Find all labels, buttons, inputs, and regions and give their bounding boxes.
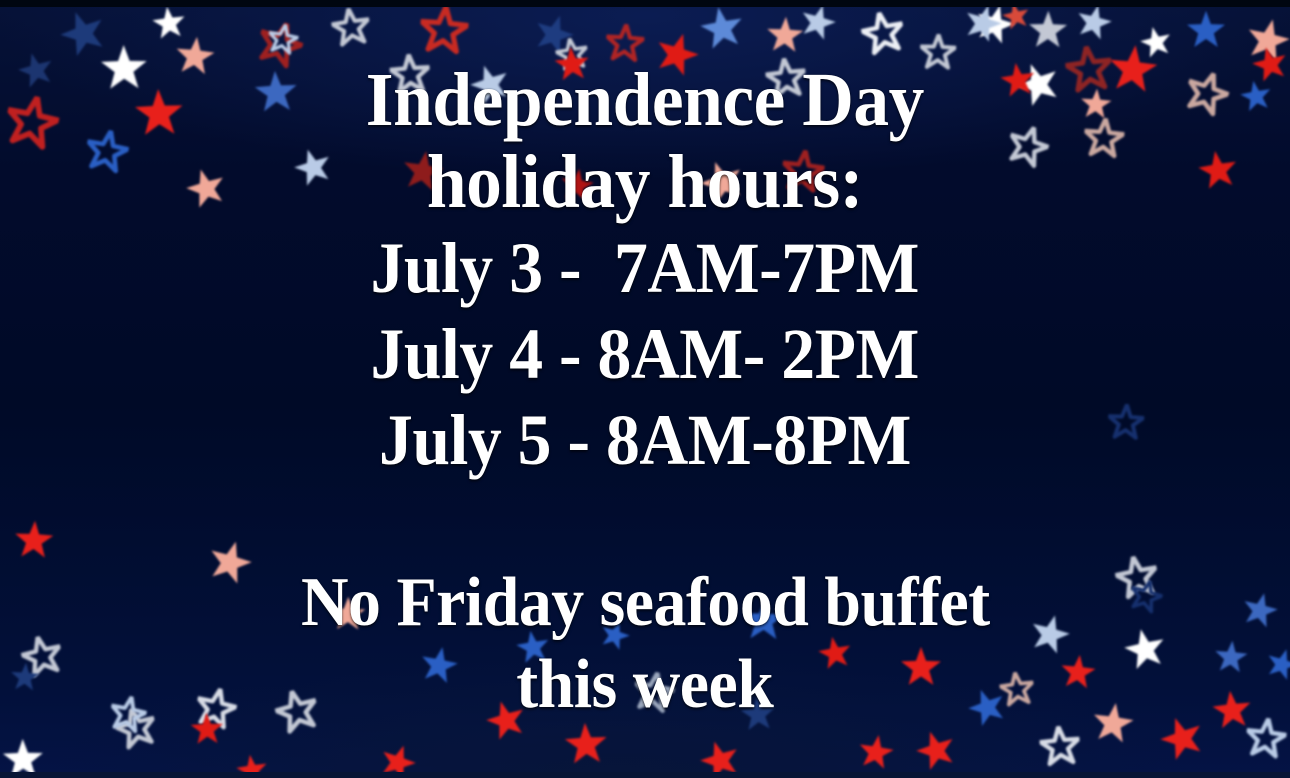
star-icon (552, 44, 591, 83)
star-icon (203, 535, 257, 589)
star-icon (465, 59, 515, 109)
star-icon (998, 60, 1039, 101)
star-icon (694, 154, 750, 210)
star-icon (82, 126, 131, 175)
star-icon (1082, 116, 1125, 159)
star-icon (605, 23, 646, 64)
star-icon (1237, 77, 1274, 114)
star-icon (234, 752, 270, 778)
star-icon (289, 143, 336, 190)
star-icon (1106, 42, 1161, 97)
star-icon (764, 56, 808, 100)
star-icon (911, 725, 961, 775)
star-icon (697, 3, 748, 54)
star-icon (739, 695, 777, 733)
star-icon (998, 670, 1036, 708)
star-icon (417, 643, 462, 688)
star-icon (855, 731, 896, 772)
star-icon (1003, 121, 1053, 171)
star-icon (1058, 652, 1098, 692)
star-icon (1262, 644, 1290, 684)
star-icon (1079, 87, 1113, 121)
star-icon (14, 48, 58, 92)
star-icon (1120, 624, 1170, 674)
star-icon (173, 34, 217, 78)
star-icon (780, 148, 827, 195)
holiday-hours-poster: Independence Day holiday hours: July 3 -… (0, 0, 1290, 778)
star-icon (271, 685, 322, 736)
star-icon (1, 91, 63, 153)
star-icon (266, 22, 301, 57)
star-icon (9, 661, 41, 693)
star-icon (919, 33, 956, 70)
star-icon (563, 721, 609, 767)
star-icon (389, 53, 432, 96)
star-icon (1244, 716, 1289, 761)
star-icon (900, 646, 942, 688)
star-icon (481, 695, 530, 744)
star-icon (330, 6, 373, 49)
star-icon (133, 87, 185, 139)
star-icon (650, 27, 705, 82)
star-icon (2, 738, 45, 778)
star-icon (1107, 403, 1145, 441)
star-icon (741, 597, 787, 643)
star-icon (13, 519, 55, 561)
star-icon (1213, 639, 1250, 676)
star-icon (1180, 66, 1233, 119)
star-icon (399, 147, 447, 195)
star-icon (1186, 10, 1226, 50)
star-icon (100, 44, 149, 93)
star-icon (1238, 588, 1282, 632)
star-icon (375, 739, 421, 778)
star-icon (1028, 10, 1069, 51)
star-icon (1154, 710, 1210, 766)
star-icon (815, 633, 854, 672)
star-icon (695, 735, 745, 778)
star-icon (181, 163, 230, 212)
star-icon (330, 596, 367, 633)
star-icon (558, 166, 596, 204)
star-icon (189, 711, 224, 746)
star-icon (1072, 0, 1116, 44)
star-icon (631, 669, 677, 715)
star-icon (1026, 610, 1075, 659)
star-icon (1126, 576, 1166, 616)
star-icon (1195, 147, 1241, 193)
star-icon (418, 4, 470, 56)
star-icon (253, 69, 299, 115)
star-icon (514, 628, 553, 667)
star-icon (1089, 699, 1136, 746)
star-icon (107, 693, 150, 736)
star-icon (596, 616, 634, 654)
star-icon (1038, 724, 1081, 767)
star-background-decoration (0, 0, 1290, 778)
star-icon (858, 8, 907, 57)
